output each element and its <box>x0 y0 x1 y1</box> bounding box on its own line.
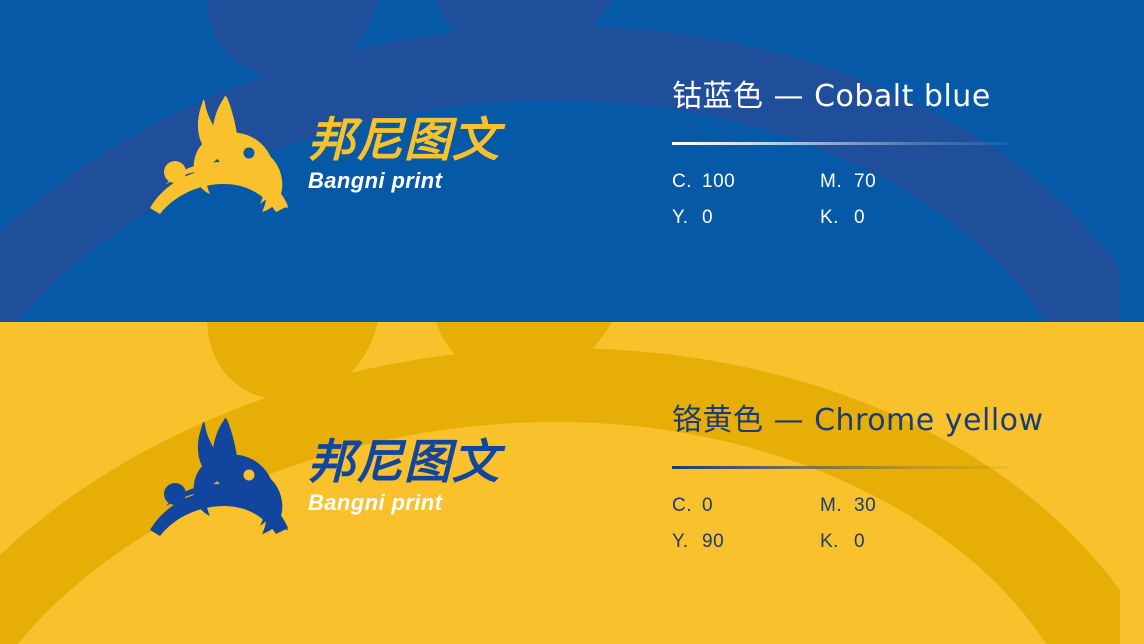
cyan-label: C. <box>672 171 702 193</box>
black-label: K. <box>820 531 854 553</box>
spec-title: 钴蓝色 — Cobalt blue <box>672 78 1092 116</box>
cmyk-values: C. 100 M. 70 Y. 0 K. 0 <box>672 171 1092 229</box>
black-label: K. <box>820 207 854 229</box>
brand-color-sheet: 邦尼图文 Bangni print 钴蓝色 — Cobalt blue C. 1… <box>0 0 1144 644</box>
magenta-value: 30 <box>854 495 934 517</box>
wordmark-chinese: 邦尼图文 <box>308 117 500 166</box>
cyan-value: 0 <box>702 495 820 517</box>
wordmark-english: Bangni print <box>308 169 500 193</box>
logo-lockup-blue: 邦尼图文 Bangni print <box>148 96 500 214</box>
rabbit-logo-icon <box>148 96 298 214</box>
spec-divider <box>672 142 1010 145</box>
cyan-value: 100 <box>702 171 820 193</box>
black-value: 0 <box>854 531 934 553</box>
panel-chrome-yellow: 邦尼图文 Bangni print 铬黄色 — Chrome yellow C.… <box>0 322 1144 644</box>
wordmark-chinese: 邦尼图文 <box>308 439 500 488</box>
magenta-label: M. <box>820 495 854 517</box>
panel-cobalt-blue: 邦尼图文 Bangni print 钴蓝色 — Cobalt blue C. 1… <box>0 0 1144 322</box>
spec-chrome-yellow: 铬黄色 — Chrome yellow C. 0 M. 30 Y. 90 K. … <box>672 402 1092 553</box>
yellow-label: Y. <box>672 207 702 229</box>
yellow-value: 0 <box>702 207 820 229</box>
wordmark-yellow: 邦尼图文 Bangni print <box>308 439 500 515</box>
wordmark-blue: 邦尼图文 Bangni print <box>308 117 500 193</box>
wordmark-english: Bangni print <box>308 491 500 515</box>
black-value: 0 <box>854 207 934 229</box>
spec-title: 铬黄色 — Chrome yellow <box>672 402 1092 440</box>
rabbit-logo-icon <box>148 418 298 536</box>
cyan-label: C. <box>672 495 702 517</box>
magenta-label: M. <box>820 171 854 193</box>
logo-lockup-yellow: 邦尼图文 Bangni print <box>148 418 500 536</box>
spec-cobalt-blue: 钴蓝色 — Cobalt blue C. 100 M. 70 Y. 0 K. 0 <box>672 78 1092 229</box>
yellow-label: Y. <box>672 531 702 553</box>
yellow-value: 90 <box>702 531 820 553</box>
magenta-value: 70 <box>854 171 934 193</box>
cmyk-values: C. 0 M. 30 Y. 90 K. 0 <box>672 495 1092 553</box>
spec-divider <box>672 466 1010 469</box>
